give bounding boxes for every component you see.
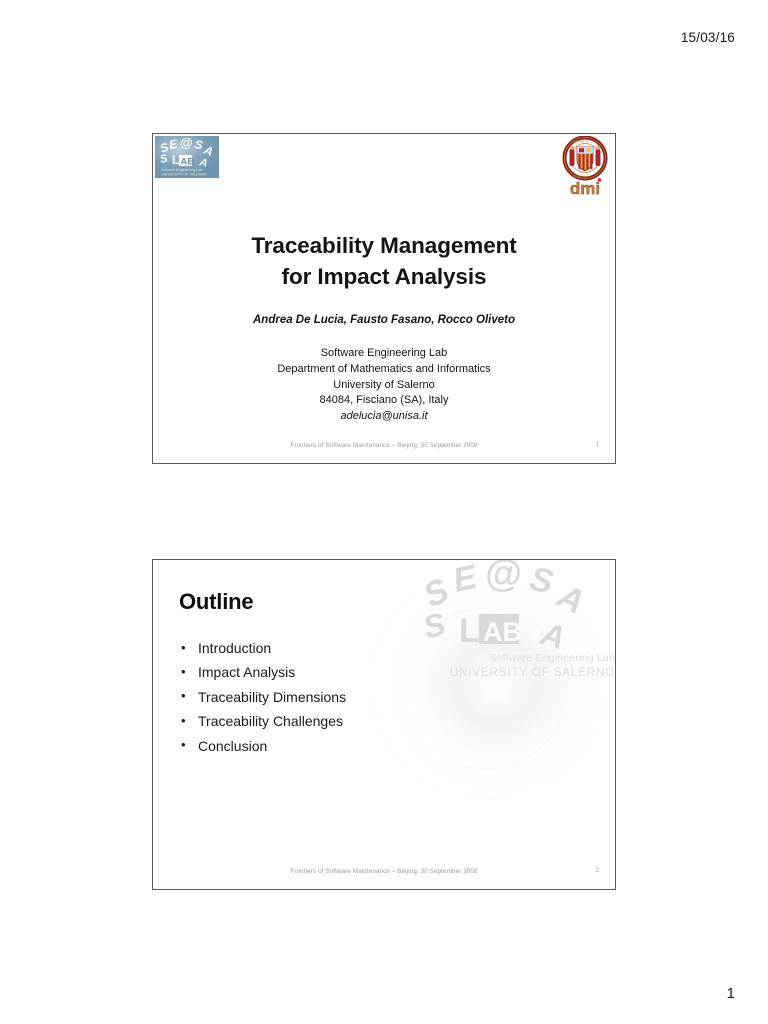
list-item: Conclusion [179,734,346,758]
svg-text:UNIVERSITY OF SALERNO: UNIVERSITY OF SALERNO [161,173,207,177]
outline-bullet-list: Introduction Impact Analysis Traceabilit… [179,636,346,758]
watermark-caption-line-1: Software Engineering Lab [411,652,615,664]
list-item: Impact Analysis [179,660,346,684]
svg-text:AB: AB [483,617,522,647]
watermark-halo [377,574,607,804]
slide-title-text: Traceability Management for Impact Analy… [153,230,615,292]
svg-text:@: @ [180,136,193,150]
affiliation-line: Software Engineering Lab [153,346,615,362]
svg-text:S: S [419,605,450,646]
svg-text:E: E [168,137,179,152]
affiliation-line: 84084, Fisciano (SA), Italy [153,393,615,409]
slide-number: 1 [596,442,599,448]
se-at-sa-lab-logo: S E @ S A S L AB A Software Engineering … [155,136,219,178]
title-line-1: Traceability Management [153,230,615,261]
se-at-sa-lab-watermark: S E @ S A S L AB A Software Engineering … [411,559,616,786]
svg-text:E: E [450,559,481,600]
svg-text:STUDIORUM: STUDIORUM [573,174,589,178]
list-item: Traceability Challenges [179,709,346,733]
footer-conference-text: Frontiers of Software Maintenance – Beij… [153,442,615,449]
authors-line: Andrea De Lucia, Fausto Fasano, Rocco Ol… [153,314,615,326]
slide-number: 2 [596,868,599,874]
page-title: Outline [179,589,253,615]
svg-text:S: S [159,152,170,166]
watermark-ring-inner [405,608,567,770]
svg-text:A: A [536,615,569,656]
page-date: 15/03/16 [681,30,735,45]
svg-text:S: S [526,560,556,602]
page-number: 1 [727,985,735,1002]
watermark-caption-line-2: UNIVERSITY OF SALERNO [411,667,615,679]
slide-footer: Frontiers of Software Maintenance – Beij… [153,868,615,880]
svg-text:Software Engineering Lab: Software Engineering Lab [161,168,202,172]
watermark-ring-outer [371,566,605,800]
svg-text:L: L [172,153,179,167]
svg-text:dmi: dmi [570,179,600,198]
svg-text:@: @ [485,559,522,595]
list-item: Introduction [179,636,346,660]
svg-text:A: A [551,577,591,622]
slide-footer: Frontiers of Software Maintenance – Beij… [153,442,615,454]
affiliation-block: Software Engineering Lab Department of M… [153,346,615,425]
title-line-2: for Impact Analysis [153,261,615,292]
svg-text:S: S [193,137,203,152]
svg-text:S: S [418,571,455,615]
slide-title[interactable]: S E @ S A S L AB A Software Engineering … [152,133,616,464]
university-of-salerno-crest: UNIVERSITAS STUDIORUM dmi [561,136,609,198]
svg-text:AB: AB [181,157,195,168]
svg-text:L: L [459,612,480,650]
svg-text:UNIVERSITAS: UNIVERSITAS [572,140,589,144]
contact-email: adelucia@unisa.it [153,409,615,425]
slide-outline[interactable]: S E @ S A S L AB A Software Engineering … [152,559,616,890]
affiliation-line: University of Salerno [153,378,615,394]
footer-conference-text: Frontiers of Software Maintenance – Beij… [153,868,615,875]
list-item: Traceability Dimensions [179,685,346,709]
affiliation-line: Department of Mathematics and Informatic… [153,362,615,378]
